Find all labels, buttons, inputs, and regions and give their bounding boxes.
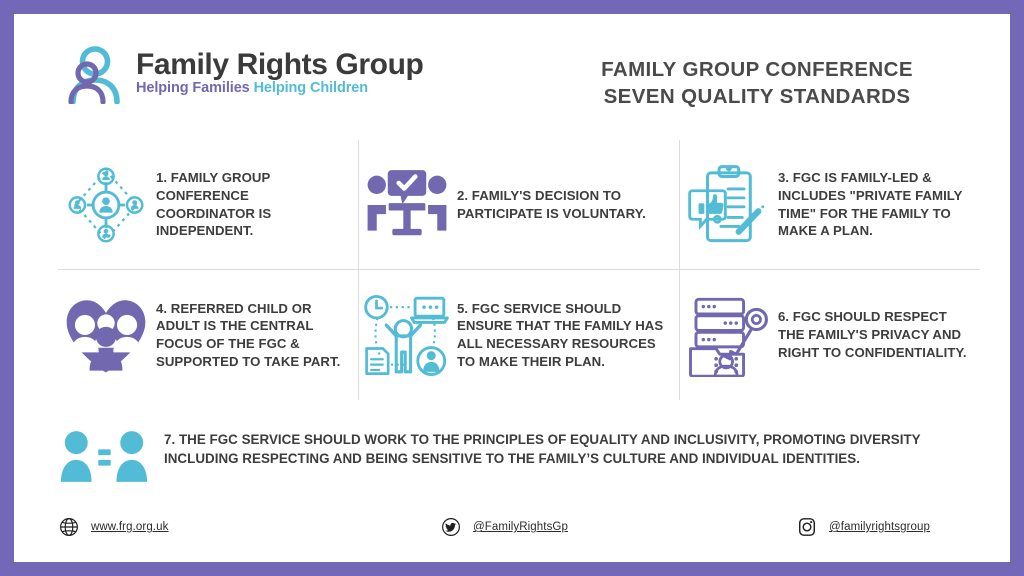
standard-item-4: 4. REFERRED CHILD OR ADULT IS THE CENTRA… [58, 270, 358, 400]
footer-twitter-label[interactable]: @FamilyRightsGp [473, 521, 568, 533]
brand-tagline-part2: Helping Children [254, 80, 368, 96]
page-title-line-2: SEVEN QUALITY STANDARDS [542, 83, 972, 110]
brand-wordmark: Family Rights Group [136, 49, 423, 81]
two-people-table-checkmark-icon [363, 157, 451, 253]
twitter-bird-icon [440, 516, 462, 538]
network-people-hub-icon [62, 157, 150, 253]
poster-canvas: Family Rights Group Helping Families Hel… [14, 14, 1010, 562]
standard-item-6-text: 6. FGC SHOULD RESPECT THE FAMILY'S PRIVA… [778, 308, 970, 361]
clipboard-thumbs-up-pencil-icon [684, 157, 772, 253]
standards-grid: 1. FAMILY GROUP CONFERENCE COORDINATOR I… [58, 140, 980, 400]
footer-instagram-label[interactable]: @familyrightsgroup [829, 521, 930, 533]
standard-item-7-text: 7. THE FGC SERVICE SHOULD WORK TO THE PR… [164, 428, 980, 469]
server-key-privacy-icon [684, 287, 772, 383]
standard-item-1-text: 1. FAMILY GROUP CONFERENCE COORDINATOR I… [156, 169, 350, 240]
instagram-icon [796, 516, 818, 538]
poster-frame: Family Rights Group Helping Families Hel… [0, 0, 1024, 576]
standard-item-4-text: 4. REFERRED CHILD OR ADULT IS THE CENTRA… [156, 300, 350, 371]
standard-item-2-text: 2. FAMILY'S DECISION TO PARTICIPATE IS V… [457, 187, 671, 222]
footer-instagram[interactable]: @familyrightsgroup [796, 516, 966, 538]
family-rights-group-logo-icon [62, 42, 124, 104]
footer-website[interactable]: www.frg.org.uk [58, 516, 440, 538]
standard-item-5-text: 5. FGC SERVICE SHOULD ENSURE THAT THE FA… [457, 300, 671, 371]
brand-logo-text: Family Rights Group Helping Families Hel… [136, 49, 423, 97]
standard-item-3: 3. FGC IS FAMILY-LED & INCLUDES "PRIVATE… [680, 140, 978, 269]
standard-item-3-text: 3. FGC IS FAMILY-LED & INCLUDES "PRIVATE… [778, 169, 970, 240]
header: Family Rights Group Helping Families Hel… [14, 14, 1010, 136]
heart-family-group-icon [62, 287, 150, 383]
standard-item-5: 5. FGC SERVICE SHOULD ENSURE THAT THE FA… [358, 270, 680, 400]
brand-tagline: Helping Families Helping Children [136, 81, 423, 97]
page-title-line-1: FAMILY GROUP CONFERENCE [542, 56, 972, 83]
standard-item-6: 6. FGC SHOULD RESPECT THE FAMILY'S PRIVA… [680, 270, 978, 400]
footer: www.frg.org.uk @FamilyRightsGp [58, 510, 966, 544]
standard-item-2: 2. FAMILY'S DECISION TO PARTICIPATE IS V… [358, 140, 680, 269]
brand-tagline-part1: Helping Families [136, 80, 250, 96]
footer-website-label[interactable]: www.frg.org.uk [91, 521, 168, 533]
standards-row-top: 1. FAMILY GROUP CONFERENCE COORDINATOR I… [58, 140, 980, 270]
standard-item-1: 1. FAMILY GROUP CONFERENCE COORDINATOR I… [58, 140, 358, 269]
standard-item-7: 7. THE FGC SERVICE SHOULD WORK TO THE PR… [58, 412, 980, 486]
footer-twitter[interactable]: @FamilyRightsGp [440, 516, 796, 538]
two-people-equals-icon [58, 428, 150, 486]
globe-icon [58, 516, 80, 538]
page-title: FAMILY GROUP CONFERENCE SEVEN QUALITY ST… [542, 56, 972, 110]
brand-logo: Family Rights Group Helping Families Hel… [62, 42, 423, 104]
person-resources-clock-laptop-icon [363, 287, 451, 383]
standards-row-bottom: 4. REFERRED CHILD OR ADULT IS THE CENTRA… [58, 270, 980, 400]
